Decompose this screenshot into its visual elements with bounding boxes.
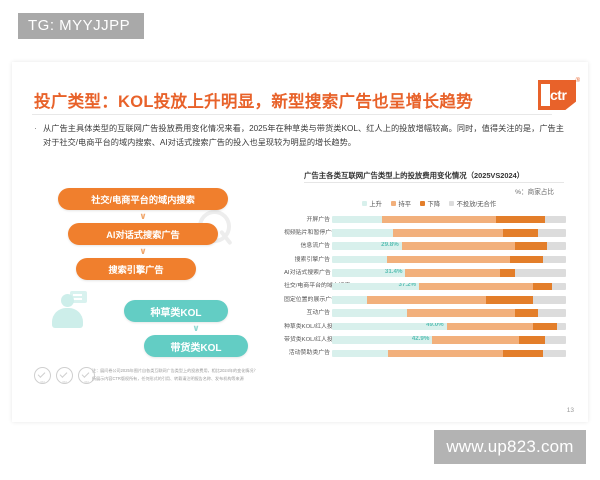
title-divider [32,114,552,115]
bar-segment [557,323,566,331]
bar-segment [388,350,503,358]
logo-text: ctr [550,85,566,105]
legend-swatch [449,201,454,206]
bar-segment [519,336,545,344]
connector-chevron-3: ∨ [144,323,248,334]
bar-segment [393,229,503,237]
legend-swatch [362,201,367,206]
bar-segment [447,323,534,331]
summary-text: 从广告主具体类型的互联网广告投放费用变化情况来看，2025年在种草类与带货类KO… [43,122,564,149]
category-label: 种草类KOL/红人投放 [284,323,330,331]
chart-row: 视频贴片和暂停广告 [284,226,574,239]
bar-segment [402,242,515,250]
bar-segment [382,216,495,224]
bar-value-label: 29.8% [381,242,399,248]
pill-sales-kol[interactable]: 带货类KOL [144,335,248,357]
pill-domain-search[interactable]: 社交/电商平台的域内搜索 [58,188,228,210]
legend-swatch [391,201,396,206]
stacked-bar [332,350,566,358]
stacked-bar [332,309,566,317]
bar-segment: 31.4% [332,269,405,277]
legend-label: 不投放/无合作 [457,199,497,208]
chart-row: 活动赞助类广告 [284,347,574,360]
legend-swatch [420,201,425,206]
category-label: 信息流广告 [284,242,330,250]
bar-segment [332,216,382,224]
bar-value-label: 31.4% [385,269,403,275]
bar-segment [332,309,407,317]
category-label: 固定位置的展示广告 [284,296,330,304]
bullet-dot-icon: · [34,122,37,149]
footer-line: 所展示内容CTR版权所有，任何形式的引用、转载请注明报告名称、发布机构等来源 [92,375,362,383]
chart-row: AI对话式搜索广告31.4% [284,267,574,280]
legend-item: 不投放/无合作 [449,199,496,208]
illustration-panel: 社交/电商平台的域内搜索 ∨ AI对话式搜索广告 ∨ 搜索引擎广告 种草类KOL… [26,182,276,362]
chart-panel: 广告主各类互联网广告类型上的投放费用变化情况（2025VS2024） %：商家占… [284,170,574,370]
bar-segment [405,269,500,277]
bar-segment: 37.2% [332,283,419,291]
bar-segment [543,350,566,358]
stacked-bar [332,256,566,264]
pill-seeding-kol[interactable]: 种草类KOL [124,300,228,322]
badge-caption: 360 [57,380,72,384]
bar-segment [387,256,510,264]
ctr-logo: ctr ® [538,80,578,112]
bar-segment [538,229,566,237]
bar-segment [486,296,533,304]
category-label: 搜索引擎广告 [284,256,330,264]
chart-row: 固定位置的展示广告 [284,293,574,306]
bar-segment [515,242,548,250]
bar-segment [545,336,566,344]
bar-value-label: 37.2% [399,283,417,289]
legend-label: 持平 [398,199,411,208]
bar-segment [432,336,519,344]
footer-line: 注：展问卷公司2025年图片自各类互联网广告类型上的投放费用，相比2024年的变… [92,367,362,375]
legend-label: 下降 [428,199,441,208]
bar-segment [503,229,538,237]
category-label: 活动赞助类广告 [284,349,330,357]
bar-segment [533,323,556,331]
bar-segment [545,216,566,224]
bar-segment [496,216,545,224]
chart-row: 社交/电商平台的域内搜索37.2% [284,280,574,293]
badge-caption: 360 [35,380,50,384]
registered-icon: ® [576,78,580,84]
stacked-bar [332,216,566,224]
bar-segment [515,269,566,277]
check-badge-icon: 360 [56,367,73,384]
bar-segment [367,296,486,304]
bar-value-label: 42.9% [412,336,430,342]
chart-row: 开屏广告 [284,213,574,226]
bar-segment [515,309,538,317]
person-icon [48,290,88,332]
chart-unit-label: %：商家占比 [515,186,554,196]
stacked-bar: 31.4% [332,269,566,277]
page-number: 13 [567,407,574,414]
bar-segment: 29.8% [332,242,402,250]
chart-title: 广告主各类互联网广告类型上的投放费用变化情况（2025VS2024） [304,170,524,181]
page-title: 投广类型：KOL投放上升明显，新型搜索广告也呈增长趋势 [34,88,473,112]
chart-title-divider [304,182,564,183]
legend-item: 上升 [362,199,382,208]
stacked-bar: 29.8% [332,242,566,250]
bar-segment [552,283,566,291]
bar-segment [332,229,393,237]
bar-segment [543,256,566,264]
legend-item: 持平 [391,199,411,208]
summary-bullet: · 从广告主具体类型的互联网广告投放费用变化情况来看，2025年在种草类与带货类… [34,122,564,149]
bar-segment: 49.0% [332,323,447,331]
connector-chevron-1: ∨ [58,211,228,222]
bar-segment [533,296,566,304]
bar-segment [533,283,552,291]
bar-segment [503,350,543,358]
category-label: 互动广告 [284,309,330,317]
bar-segment [332,256,387,264]
chart-row: 带货类KOL/红人投放42.9% [284,334,574,347]
bar-segment [510,256,543,264]
category-label: 社交/电商平台的域内搜索 [284,282,330,290]
legend-label: 上升 [369,199,382,208]
person-body [52,308,83,328]
footer-lines: 注：展问卷公司2025年图片自各类互联网广告类型上的投放费用，相比2024年的变… [92,367,362,382]
bar-segment: 42.9% [332,336,432,344]
bar-segment [332,296,367,304]
logo-notch [541,84,550,106]
category-label: AI对话式搜索广告 [284,269,330,277]
bar-segment [407,309,515,317]
watermark: www.up823.com [434,430,586,464]
bar-segment [332,350,388,358]
stacked-bar: 49.0% [332,323,566,331]
bar-segment [500,269,514,277]
stacked-bar: 42.9% [332,336,566,344]
person-head [61,294,74,307]
certification-badges: 360360360 [34,367,95,384]
bar-value-label: 49.0% [426,323,444,329]
pill-ai-search-ad[interactable]: AI对话式搜索广告 [68,223,218,245]
category-label: 带货类KOL/红人投放 [284,336,330,344]
chart-legend: 上升持平下降不投放/无合作 [284,199,574,208]
bar-segment [547,242,566,250]
connector-chevron-2: ∨ [68,246,218,257]
stacked-bar [332,229,566,237]
tg-banner: TG: MYYJJPP [18,13,144,39]
slide-card: 投广类型：KOL投放上升明显，新型搜索广告也呈增长趋势 ctr ® · 从广告主… [12,62,588,422]
chart-row: 互动广告 [284,307,574,320]
chart-row: 种草类KOL/红人投放49.0% [284,320,574,333]
chart-row: 搜索引擎广告 [284,253,574,266]
legend-item: 下降 [420,199,440,208]
stacked-bar [332,296,566,304]
bar-segment [538,309,566,317]
chart-row: 信息流广告29.8% [284,240,574,253]
check-badge-icon: 360 [34,367,51,384]
bar-segment [419,283,533,291]
pill-search-engine-ad[interactable]: 搜索引擎广告 [76,258,196,280]
stacked-bar: 37.2% [332,283,566,291]
chart-rows: 开屏广告视频贴片和暂停广告信息流广告29.8%搜索引擎广告AI对话式搜索广告31… [284,213,574,360]
category-label: 视频贴片和暂停广告 [284,229,330,237]
category-label: 开屏广告 [284,216,330,224]
